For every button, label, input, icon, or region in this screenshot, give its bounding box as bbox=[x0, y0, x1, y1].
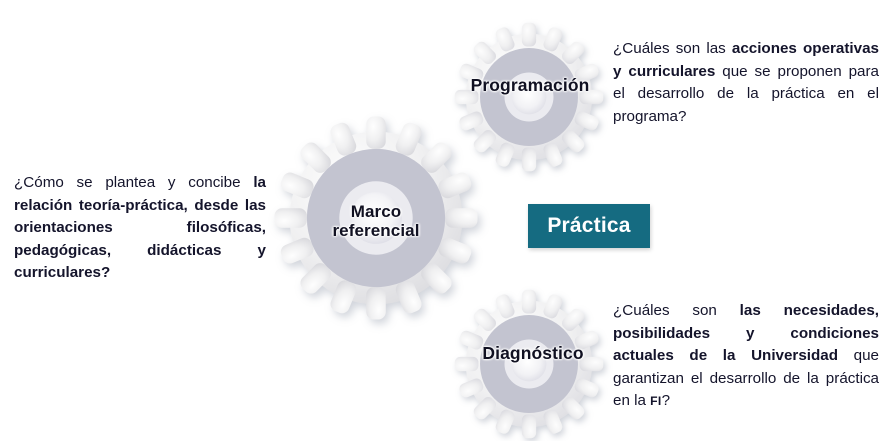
diagram-canvas: Programación Marco referencial Diagnósti… bbox=[0, 0, 884, 441]
question-top-right-lead: ¿Cuáles son las bbox=[613, 40, 732, 57]
question-bottom-right-tail-end: ? bbox=[662, 392, 670, 409]
question-left-lead: ¿Cómo se plantea y concibe bbox=[14, 174, 253, 191]
question-bottom-right: ¿Cuáles son las necesidades, posibilidad… bbox=[613, 300, 879, 413]
question-top-right: ¿Cuáles son las acciones operativas y cu… bbox=[613, 38, 879, 128]
gear-diagnostico bbox=[450, 285, 608, 441]
question-left: ¿Cómo se plantea y concibe la relación t… bbox=[14, 172, 266, 285]
practica-chip-label: Práctica bbox=[547, 214, 630, 238]
question-bottom-right-abbr: FI bbox=[650, 394, 661, 408]
practica-chip[interactable]: Práctica bbox=[528, 204, 650, 248]
question-bottom-right-lead: ¿Cuáles son bbox=[613, 302, 740, 319]
